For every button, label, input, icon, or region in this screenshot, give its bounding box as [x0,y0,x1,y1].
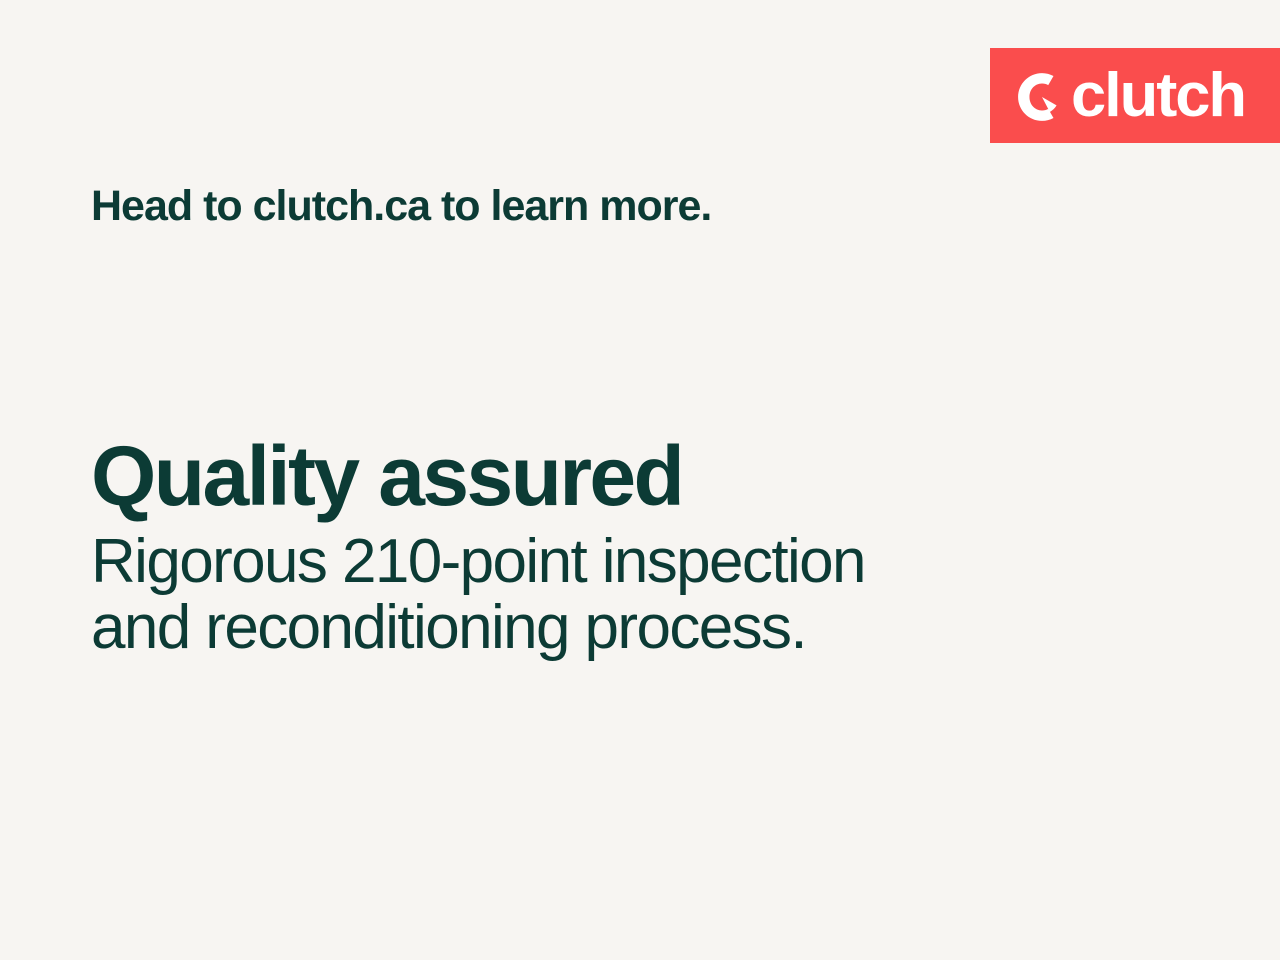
clutch-c-mark-icon [1016,71,1068,123]
brand-badge: clutch [990,48,1280,143]
subheadline-line-2: and reconditioning process. [91,595,1091,661]
slide-canvas: clutch Head to clutch.ca to learn more. … [0,0,1280,960]
message-block: Quality assured Rigorous 210-point inspe… [91,432,1091,662]
eyebrow-text: Head to clutch.ca to learn more. [91,182,711,230]
subheadline-line-1: Rigorous 210-point inspection [91,529,1091,595]
brand-wordmark: clutch [1071,65,1245,127]
brand-lockup: clutch [1016,65,1242,127]
subheadline: Rigorous 210-point inspection and recond… [91,529,1091,662]
headline: Quality assured [91,432,1091,521]
